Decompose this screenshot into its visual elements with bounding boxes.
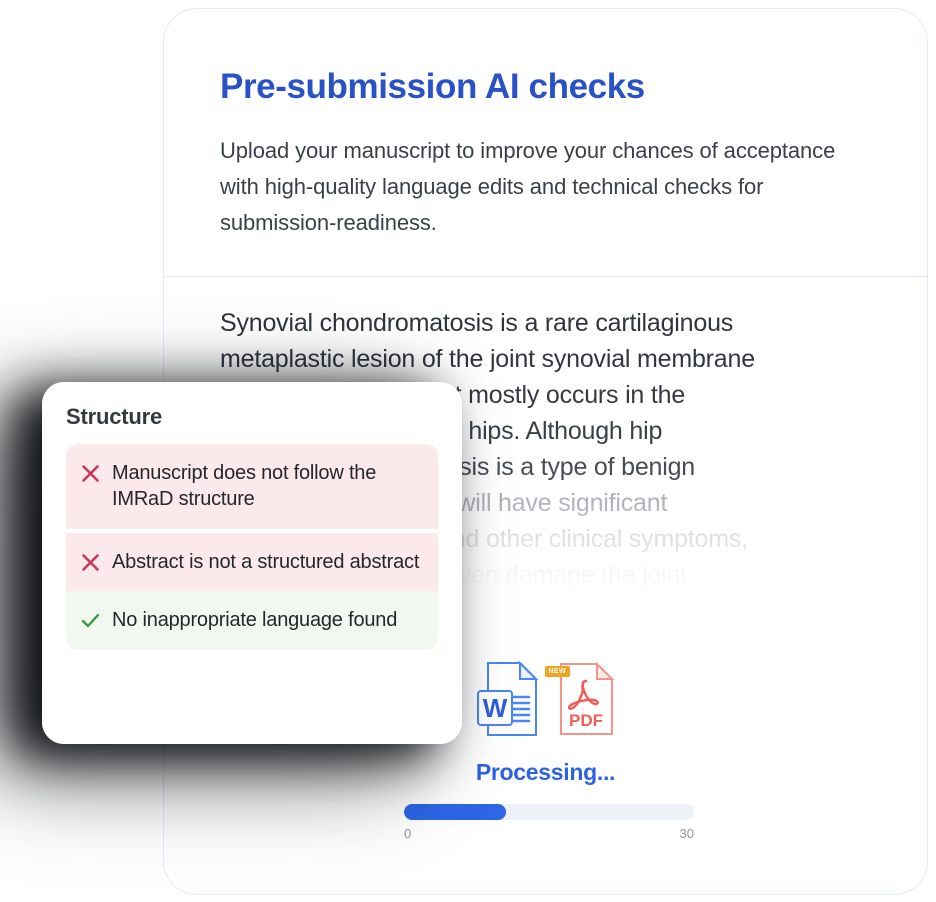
cross-icon bbox=[80, 463, 101, 484]
processing-status-label: Processing... bbox=[164, 759, 927, 786]
pdf-label: PDF bbox=[569, 711, 603, 730]
structure-card-title: Structure bbox=[66, 404, 438, 430]
structure-check-list: Manuscript does not follow the IMRaD str… bbox=[66, 444, 438, 650]
page-title: Pre-submission AI checks bbox=[220, 67, 871, 107]
page-subtitle: Upload your manuscript to improve your c… bbox=[220, 133, 860, 240]
check-icon bbox=[80, 610, 101, 631]
check-item-label: Abstract is not a structured abstract bbox=[112, 549, 419, 575]
pdf-document-icon[interactable]: NEW PDF bbox=[555, 661, 617, 742]
progress-scale: 0 30 bbox=[404, 826, 694, 841]
progress-fill bbox=[404, 804, 506, 820]
word-document-icon[interactable]: W bbox=[475, 661, 541, 742]
check-item-abstract[interactable]: Abstract is not a structured abstract bbox=[66, 533, 438, 591]
progress-bar: 0 30 bbox=[404, 804, 694, 841]
svg-text:W: W bbox=[482, 693, 507, 723]
check-item-label: No inappropriate language found bbox=[112, 607, 397, 633]
cross-icon bbox=[80, 552, 101, 573]
header-divider bbox=[164, 276, 927, 277]
progress-min-label: 0 bbox=[404, 826, 411, 841]
manuscript-line: Synovial chondromatosis is a rare cartil… bbox=[220, 305, 880, 341]
progress-track bbox=[404, 804, 694, 820]
manuscript-line: metaplastic lesion of the joint synovial… bbox=[220, 341, 880, 377]
new-badge: NEW bbox=[545, 666, 571, 677]
structure-card: Structure Manuscript does not follow the… bbox=[42, 382, 462, 744]
screenshot-stage: Pre-submission AI checks Upload your man… bbox=[0, 0, 936, 902]
progress-max-label: 30 bbox=[680, 826, 694, 841]
card-header: Pre-submission AI checks Upload your man… bbox=[164, 9, 927, 240]
check-item-language[interactable]: No inappropriate language found bbox=[66, 591, 438, 649]
check-item-label: Manuscript does not follow the IMRaD str… bbox=[112, 460, 422, 513]
check-item-imrad[interactable]: Manuscript does not follow the IMRaD str… bbox=[66, 444, 438, 529]
